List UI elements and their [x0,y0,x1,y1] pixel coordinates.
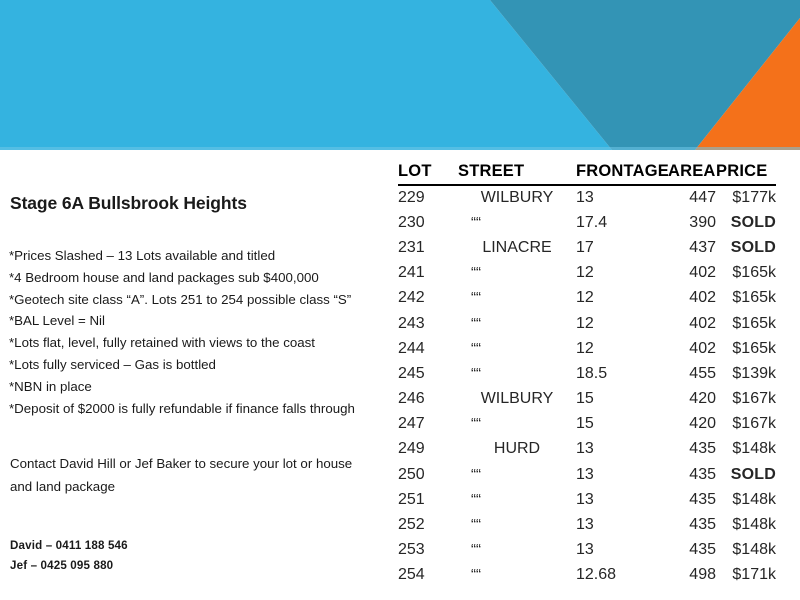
page-title: Stage 6A Bullsbrook Heights [10,193,247,214]
table-row: 246WILBURY15420$167k [398,387,776,412]
cell-frontage: 15 [576,387,668,412]
cell-area: 402 [668,336,716,361]
cell-area: 402 [668,311,716,336]
cell-area: 435 [668,487,716,512]
table-row: 247““15420$167k [398,412,776,437]
column-header-lot: LOT [398,162,458,185]
ditto-mark-pair: ““ [471,340,563,357]
cell-lot: 251 [398,487,458,512]
ditto-mark: “ [476,491,481,508]
cell-area: 447 [668,185,716,210]
lot-price-table: LOT STREET FRONTAGE AREA PRICE 229WILBUR… [398,162,776,588]
feature-bullet-list: *Prices Slashed – 13 Lots available and … [9,245,399,419]
cell-frontage: 13 [576,462,668,487]
table-row: 253““13435$148k [398,538,776,563]
cell-price: $148k [716,538,776,563]
cell-lot: 231 [398,235,458,260]
table-row: 241““12402$165k [398,261,776,286]
status-badge-sold: SOLD [716,210,776,235]
ditto-mark: “ [476,264,481,281]
feature-bullet: *BAL Level = Nil [9,310,399,332]
cell-lot: 242 [398,286,458,311]
cell-lot: 252 [398,512,458,537]
cell-street: ““ [458,563,576,588]
cell-frontage: 17 [576,235,668,260]
contact-line: and land package [10,475,390,498]
cell-frontage: 13 [576,185,668,210]
cell-frontage: 15 [576,412,668,437]
cell-frontage: 17.4 [576,210,668,235]
cell-price: $148k [716,487,776,512]
cell-street: ““ [458,487,576,512]
cell-street: ““ [458,210,576,235]
ditto-mark: “ [476,466,481,483]
cell-price: $167k [716,387,776,412]
cell-lot: 244 [398,336,458,361]
cell-street: ““ [458,361,576,386]
cell-price: $148k [716,512,776,537]
cell-price: $171k [716,563,776,588]
cell-frontage: 12 [576,336,668,361]
cell-price: $165k [716,336,776,361]
phone-line: Jef – 0425 095 880 [10,556,390,576]
cell-street: ““ [458,512,576,537]
cell-street: ““ [458,261,576,286]
cell-frontage: 18.5 [576,361,668,386]
table-row: 254““12.68498$171k [398,563,776,588]
cell-price: $165k [716,311,776,336]
ditto-mark-pair: ““ [471,264,563,281]
table-row: 252““13435$148k [398,512,776,537]
feature-bullet: *Lots fully serviced – Gas is bottled [9,354,399,376]
cell-area: 435 [668,512,716,537]
cell-area: 455 [668,361,716,386]
cell-lot: 246 [398,387,458,412]
cell-price: $165k [716,261,776,286]
ditto-mark-pair: ““ [471,289,563,306]
cell-frontage: 13 [576,487,668,512]
ditto-mark-pair: ““ [471,516,563,533]
cell-area: 435 [668,437,716,462]
table-row: 245““18.5455$139k [398,361,776,386]
cell-frontage: 13 [576,437,668,462]
cell-area: 402 [668,286,716,311]
info-column: Stage 6A Bullsbrook Heights *Prices Slas… [0,150,398,600]
cell-street: HURD [458,437,576,462]
ditto-mark-pair: ““ [471,466,563,483]
cell-street: ““ [458,286,576,311]
feature-bullet: *Deposit of $2000 is fully refundable if… [9,398,399,420]
ditto-mark: “ [476,289,481,306]
column-header-frontage: FRONTAGE [576,162,668,185]
cell-street: ““ [458,336,576,361]
column-header-price: PRICE [716,162,776,185]
column-header-street: STREET [458,162,576,185]
table-row: 250““13435SOLD [398,462,776,487]
cell-area: 435 [668,538,716,563]
table-row: 244““12402$165k [398,336,776,361]
feature-bullet: *Geotech site class “A”. Lots 251 to 254… [9,289,399,311]
ditto-mark-pair: ““ [471,214,563,231]
cell-lot: 241 [398,261,458,286]
cell-area: 420 [668,412,716,437]
header-banner [0,0,800,150]
cell-lot: 254 [398,563,458,588]
ditto-mark: “ [476,214,481,231]
cell-lot: 229 [398,185,458,210]
cell-area: 420 [668,387,716,412]
table-header-row: LOT STREET FRONTAGE AREA PRICE [398,162,776,185]
contact-line: Contact David Hill or Jef Baker to secur… [10,452,390,475]
cell-area: 435 [668,462,716,487]
cell-street: WILBURY [458,185,576,210]
phone-list: David – 0411 188 546Jef – 0425 095 880 [10,536,390,575]
cell-area: 402 [668,261,716,286]
cell-street: LINACRE [458,235,576,260]
lot-table-header: LOT STREET FRONTAGE AREA PRICE [398,162,776,185]
cell-lot: 230 [398,210,458,235]
cell-street: ““ [458,462,576,487]
cell-lot: 253 [398,538,458,563]
ditto-mark-pair: ““ [471,315,563,332]
table-row: 230““17.4390SOLD [398,210,776,235]
ditto-mark-pair: ““ [471,541,563,558]
ditto-mark: “ [476,315,481,332]
ditto-mark: “ [476,541,481,558]
column-header-area: AREA [668,162,716,185]
ditto-mark: “ [476,566,481,583]
table-row: 229WILBURY13447$177k [398,185,776,210]
ditto-mark-pair: ““ [471,365,563,382]
banner-shapes [0,0,800,150]
cell-frontage: 13 [576,538,668,563]
cell-street: ““ [458,538,576,563]
cell-frontage: 12 [576,261,668,286]
feature-bullet: *Lots flat, level, fully retained with v… [9,332,399,354]
lot-table-container: LOT STREET FRONTAGE AREA PRICE 229WILBUR… [398,150,800,600]
feature-bullet: *4 Bedroom house and land packages sub $… [9,267,399,289]
slide-canvas: Stage 6A Bullsbrook Heights *Prices Slas… [0,0,800,600]
cell-price: $165k [716,286,776,311]
table-row: 242““12402$165k [398,286,776,311]
ditto-mark: “ [476,365,481,382]
cell-lot: 245 [398,361,458,386]
table-row: 243““12402$165k [398,311,776,336]
cell-area: 437 [668,235,716,260]
ditto-mark-pair: ““ [471,566,563,583]
ditto-mark: “ [476,516,481,533]
cell-frontage: 12.68 [576,563,668,588]
phone-line: David – 0411 188 546 [10,536,390,556]
cell-area: 390 [668,210,716,235]
table-row: 231LINACRE17437SOLD [398,235,776,260]
table-row: 251““13435$148k [398,487,776,512]
cell-area: 498 [668,563,716,588]
cell-lot: 247 [398,412,458,437]
cell-price: $139k [716,361,776,386]
cell-street: ““ [458,311,576,336]
contact-paragraph: Contact David Hill or Jef Baker to secur… [10,452,390,498]
cell-price: $177k [716,185,776,210]
status-badge-sold: SOLD [716,235,776,260]
cell-street: WILBURY [458,387,576,412]
feature-bullet: *NBN in place [9,376,399,398]
cell-frontage: 13 [576,512,668,537]
ditto-mark-pair: ““ [471,491,563,508]
cell-price: $167k [716,412,776,437]
feature-bullet: *Prices Slashed – 13 Lots available and … [9,245,399,267]
ditto-mark: “ [476,415,481,432]
cell-price: $148k [716,437,776,462]
status-badge-sold: SOLD [716,462,776,487]
cell-street: ““ [458,412,576,437]
ditto-mark-pair: ““ [471,415,563,432]
cell-lot: 249 [398,437,458,462]
ditto-mark: “ [476,340,481,357]
cell-lot: 250 [398,462,458,487]
table-row: 249HURD13435$148k [398,437,776,462]
lot-table-body: 229WILBURY13447$177k230““17.4390SOLD231L… [398,185,776,588]
cell-lot: 243 [398,311,458,336]
cell-frontage: 12 [576,286,668,311]
cell-frontage: 12 [576,311,668,336]
